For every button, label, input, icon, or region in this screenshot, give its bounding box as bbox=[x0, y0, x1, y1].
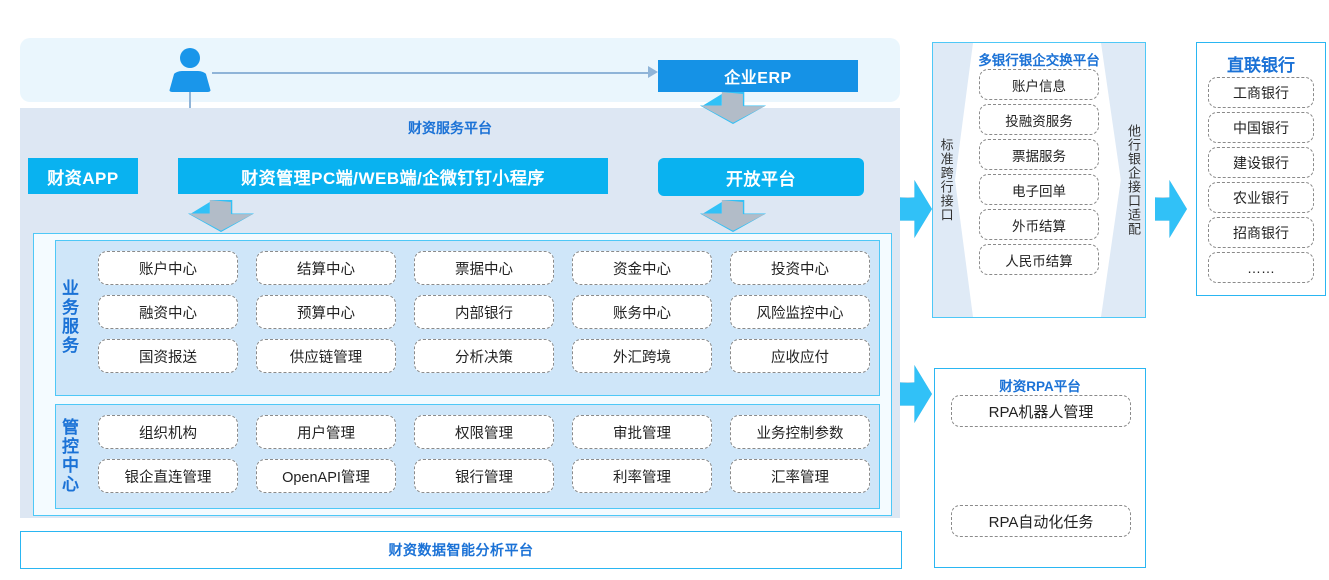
business-item[interactable]: 资金中心 bbox=[572, 251, 712, 285]
management-item[interactable]: 银企直连管理 bbox=[98, 459, 238, 493]
rpa-item[interactable]: RPA自动化任务 bbox=[951, 505, 1131, 537]
management-item[interactable]: 组织机构 bbox=[98, 415, 238, 449]
management-item[interactable]: 权限管理 bbox=[414, 415, 554, 449]
bank-exchange-item[interactable]: 电子回单 bbox=[979, 174, 1099, 205]
bank-exchange-panel: 标准跨行接口 他行银企接口适配 多银行银企交换平台 账户信息 投融资服务 票据服… bbox=[932, 42, 1146, 318]
business-item[interactable]: 投资中心 bbox=[730, 251, 870, 285]
bank-exchange-item[interactable]: 投融资服务 bbox=[979, 104, 1099, 135]
direct-bank-item[interactable]: 农业银行 bbox=[1208, 182, 1314, 213]
business-item[interactable]: 分析决策 bbox=[414, 339, 554, 373]
business-item[interactable]: 账户中心 bbox=[98, 251, 238, 285]
business-item[interactable]: 票据中心 bbox=[414, 251, 554, 285]
direct-bank-item[interactable]: …… bbox=[1208, 252, 1314, 283]
rpa-item[interactable]: RPA机器人管理 bbox=[951, 395, 1131, 427]
erp-label: 企业ERP bbox=[724, 64, 791, 88]
business-item[interactable]: 结算中心 bbox=[256, 251, 396, 285]
standard-interbank-interface-label: 标准跨行接口 bbox=[939, 138, 953, 222]
entry-treasury-app-label: 财资APP bbox=[47, 164, 118, 189]
business-item[interactable]: 供应链管理 bbox=[256, 339, 396, 373]
connector-user-to-erp bbox=[212, 72, 652, 74]
management-item[interactable]: 用户管理 bbox=[256, 415, 396, 449]
business-item[interactable]: 外汇跨境 bbox=[572, 339, 712, 373]
bank-exchange-right-band: 他行银企接口适配 bbox=[1101, 43, 1145, 317]
down-arrow-pc-to-services bbox=[188, 200, 254, 232]
entry-treasury-pc-web[interactable]: 财资管理PC端/WEB端/企微钉钉小程序 bbox=[178, 158, 608, 194]
business-item[interactable]: 账务中心 bbox=[572, 295, 712, 329]
other-bank-adapter-label: 他行银企接口适配 bbox=[1126, 124, 1140, 236]
arrowhead-user-to-erp bbox=[648, 66, 658, 78]
business-item[interactable]: 国资报送 bbox=[98, 339, 238, 373]
entry-open-platform[interactable]: 开放平台 bbox=[658, 158, 864, 196]
bank-exchange-item[interactable]: 账户信息 bbox=[979, 69, 1099, 100]
direct-banks-panel: 直联银行 工商银行 中国银行 建设银行 农业银行 招商银行 …… bbox=[1196, 42, 1326, 296]
entry-treasury-app[interactable]: 财资APP bbox=[28, 158, 138, 194]
rpa-platform-panel: 财资RPA平台 RPA机器人管理 RPA自动化任务 bbox=[934, 368, 1146, 568]
bank-exchange-item[interactable]: 外币结算 bbox=[979, 209, 1099, 240]
business-item[interactable]: 预算中心 bbox=[256, 295, 396, 329]
direct-bank-item[interactable]: 工商银行 bbox=[1208, 77, 1314, 108]
direct-bank-item[interactable]: 中国银行 bbox=[1208, 112, 1314, 143]
management-center-grid: 组织机构 用户管理 权限管理 审批管理 业务控制参数 银企直连管理 OpenAP… bbox=[98, 415, 870, 493]
business-item[interactable]: 融资中心 bbox=[98, 295, 238, 329]
management-item[interactable]: 业务控制参数 bbox=[730, 415, 870, 449]
platform-title: 财资服务平台 bbox=[408, 118, 492, 138]
direct-banks-items: 工商银行 中国银行 建设银行 农业银行 招商银行 …… bbox=[1208, 77, 1314, 283]
business-item[interactable]: 应收应付 bbox=[730, 339, 870, 373]
management-item[interactable]: OpenAPI管理 bbox=[256, 459, 396, 493]
erp-box[interactable]: 企业ERP bbox=[658, 60, 858, 92]
business-services-grid: 账户中心 结算中心 票据中心 资金中心 投资中心 融资中心 预算中心 内部银行 … bbox=[98, 251, 870, 373]
data-analysis-platform-label: 财资数据智能分析平台 bbox=[389, 540, 534, 560]
management-item[interactable]: 审批管理 bbox=[572, 415, 712, 449]
entry-open-platform-label: 开放平台 bbox=[726, 165, 796, 190]
down-arrow-erp-to-open-platform bbox=[700, 92, 766, 124]
bank-exchange-left-band: 标准跨行接口 bbox=[933, 43, 973, 317]
bank-exchange-title: 多银行银企交换平台 bbox=[933, 49, 1145, 69]
direct-banks-title: 直联银行 bbox=[1197, 51, 1325, 76]
management-center-label: 管控中心 bbox=[60, 412, 77, 500]
direct-bank-item[interactable]: 建设银行 bbox=[1208, 147, 1314, 178]
management-item[interactable]: 银行管理 bbox=[414, 459, 554, 493]
rpa-platform-title: 财资RPA平台 bbox=[935, 375, 1145, 395]
data-analysis-platform-bar: 财资数据智能分析平台 bbox=[20, 531, 902, 569]
right-arrow-to-rpa bbox=[900, 365, 932, 423]
management-item[interactable]: 汇率管理 bbox=[730, 459, 870, 493]
business-item[interactable]: 风险监控中心 bbox=[730, 295, 870, 329]
user-icon bbox=[168, 48, 212, 94]
bank-exchange-item[interactable]: 人民币结算 bbox=[979, 244, 1099, 275]
bank-exchange-item[interactable]: 票据服务 bbox=[979, 139, 1099, 170]
direct-bank-item[interactable]: 招商银行 bbox=[1208, 217, 1314, 248]
management-item[interactable]: 利率管理 bbox=[572, 459, 712, 493]
down-arrow-open-platform-to-services bbox=[700, 200, 766, 232]
right-arrow-to-direct-banks bbox=[1155, 180, 1187, 238]
business-item[interactable]: 内部银行 bbox=[414, 295, 554, 329]
bank-exchange-items: 账户信息 投融资服务 票据服务 电子回单 外币结算 人民币结算 bbox=[979, 69, 1099, 275]
business-services-label: 业务服务 bbox=[60, 252, 77, 382]
entry-treasury-pc-web-label: 财资管理PC端/WEB端/企微钉钉小程序 bbox=[241, 164, 545, 189]
right-arrow-to-bank-exchange bbox=[900, 180, 932, 238]
